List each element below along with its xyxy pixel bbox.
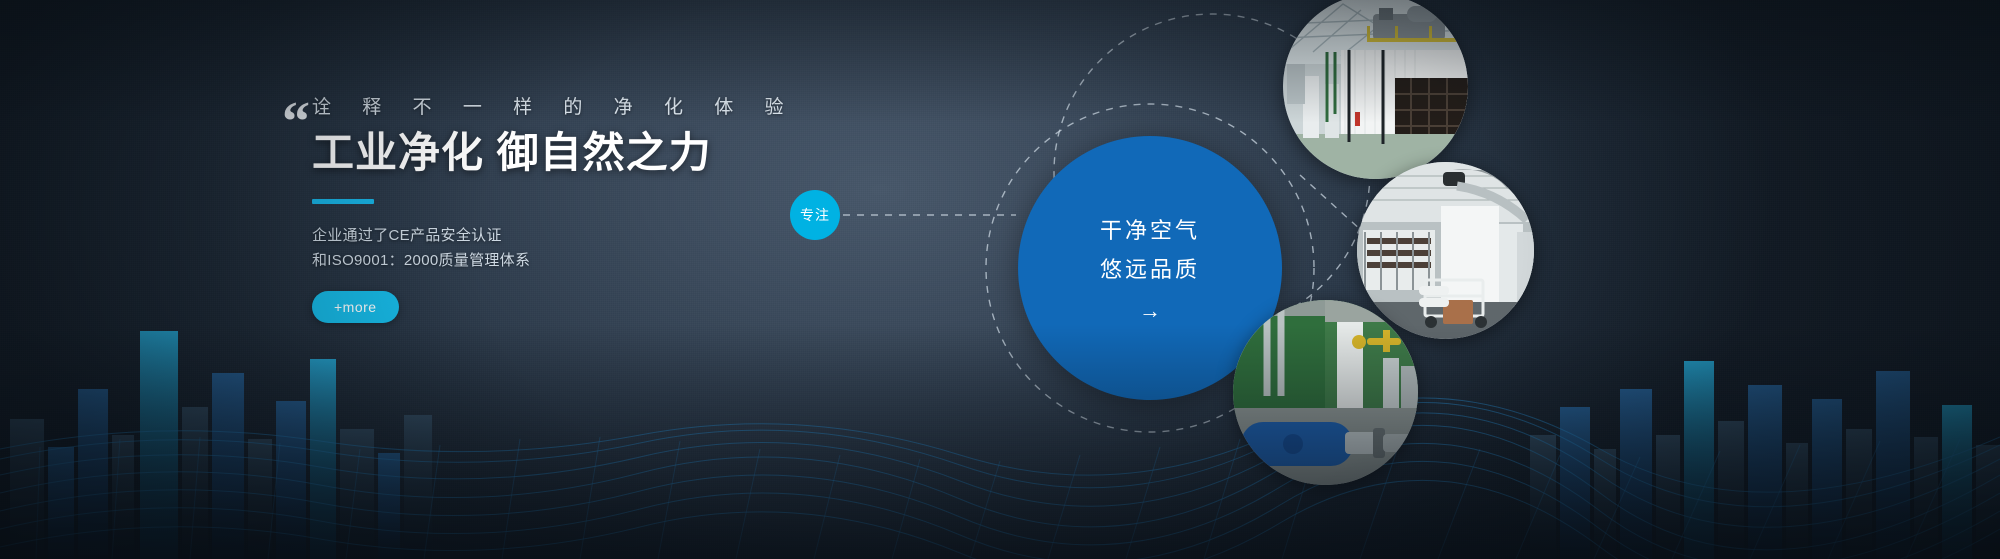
hero-subtitle: 诠 释 不 一 样 的 净 化 体 验 — [312, 92, 932, 119]
hero-headline: 工业净化 御自然之力 — [312, 129, 932, 177]
wireframe-terrain-mesh — [0, 339, 2000, 559]
factory-hall-illustration — [1283, 0, 1468, 179]
photo-circle-factory-hall — [1283, 0, 1468, 179]
more-button[interactable]: +more — [312, 291, 399, 323]
production-line-illustration — [1357, 162, 1534, 339]
hero-banner: “ 诠 释 不 一 样 的 净 化 体 验 工业净化 御自然之力 企业通过了CE… — [0, 0, 2000, 559]
focus-badge: 专注 — [790, 190, 840, 240]
description-line-2: 和ISO9001：2000质量管理体系 — [312, 249, 932, 274]
photo-circle-pipework — [1233, 300, 1418, 485]
arrow-right-icon[interactable]: → — [1139, 300, 1161, 322]
pipework-illustration — [1233, 300, 1418, 485]
photo-circle-production-line — [1357, 162, 1534, 339]
focus-badge-label: 专注 — [800, 205, 830, 225]
quote-mark-icon: “ — [282, 94, 308, 150]
hero-description: 企业通过了CE产品安全认证 和ISO9001：2000质量管理体系 — [312, 224, 932, 274]
accent-divider — [312, 199, 374, 204]
description-line-1: 企业通过了CE产品安全认证 — [312, 224, 932, 249]
hero-circle-line-1: 干净空气 — [1100, 214, 1200, 247]
hero-circle-line-2: 悠远品质 — [1100, 253, 1200, 286]
